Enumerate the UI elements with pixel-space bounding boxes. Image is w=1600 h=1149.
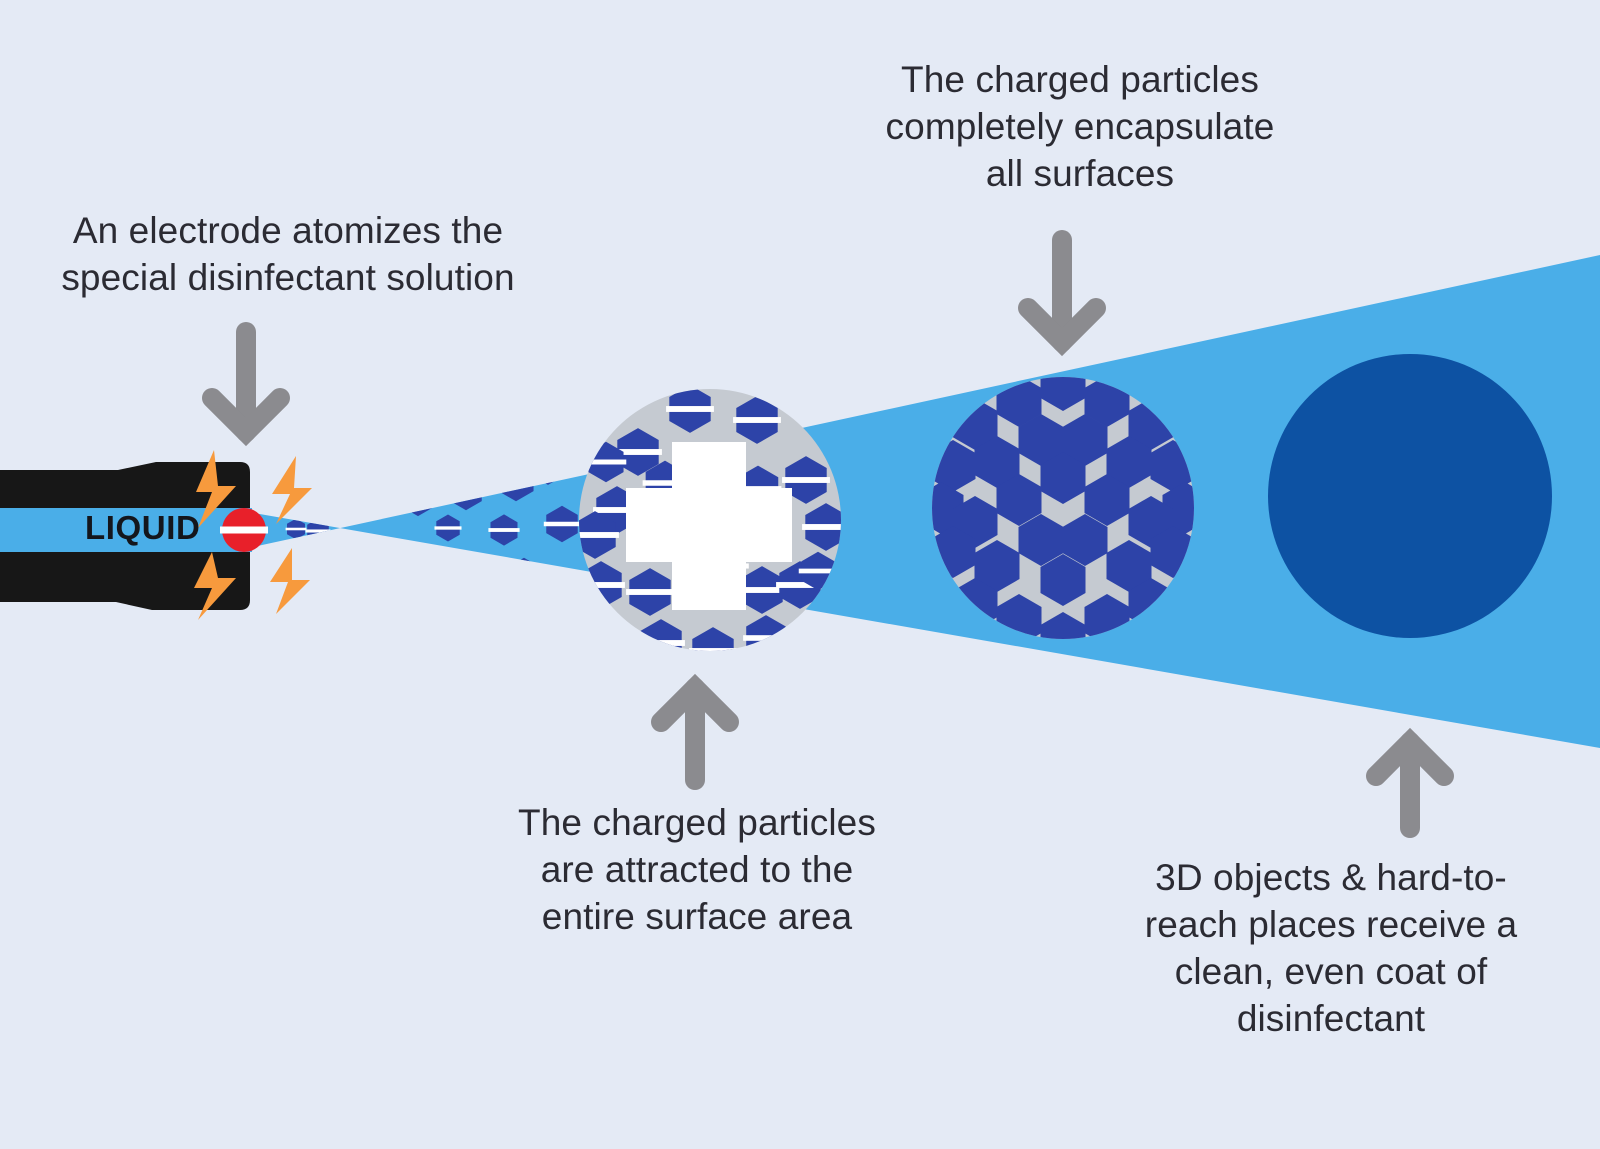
caption-encapsulate: The charged particles completely encapsu…	[802, 57, 1358, 198]
liquid-label: LIQUID	[85, 509, 225, 547]
infographic-canvas: An electrode atomizes the special disinf…	[0, 0, 1600, 1149]
solid-sphere-target	[1268, 354, 1552, 638]
caption-attracted: The charged particles are attracted to t…	[432, 800, 962, 941]
arrow-down-electrode	[212, 332, 280, 432]
arrow-up-attracted	[661, 688, 729, 780]
arrow-up-3d	[1376, 742, 1444, 828]
caption-3d-objects: 3D objects & hard-to- reach places recei…	[1096, 855, 1566, 1043]
arrow-down-encapsulate	[1028, 240, 1096, 342]
caption-electrode: An electrode atomizes the special disinf…	[10, 208, 566, 302]
